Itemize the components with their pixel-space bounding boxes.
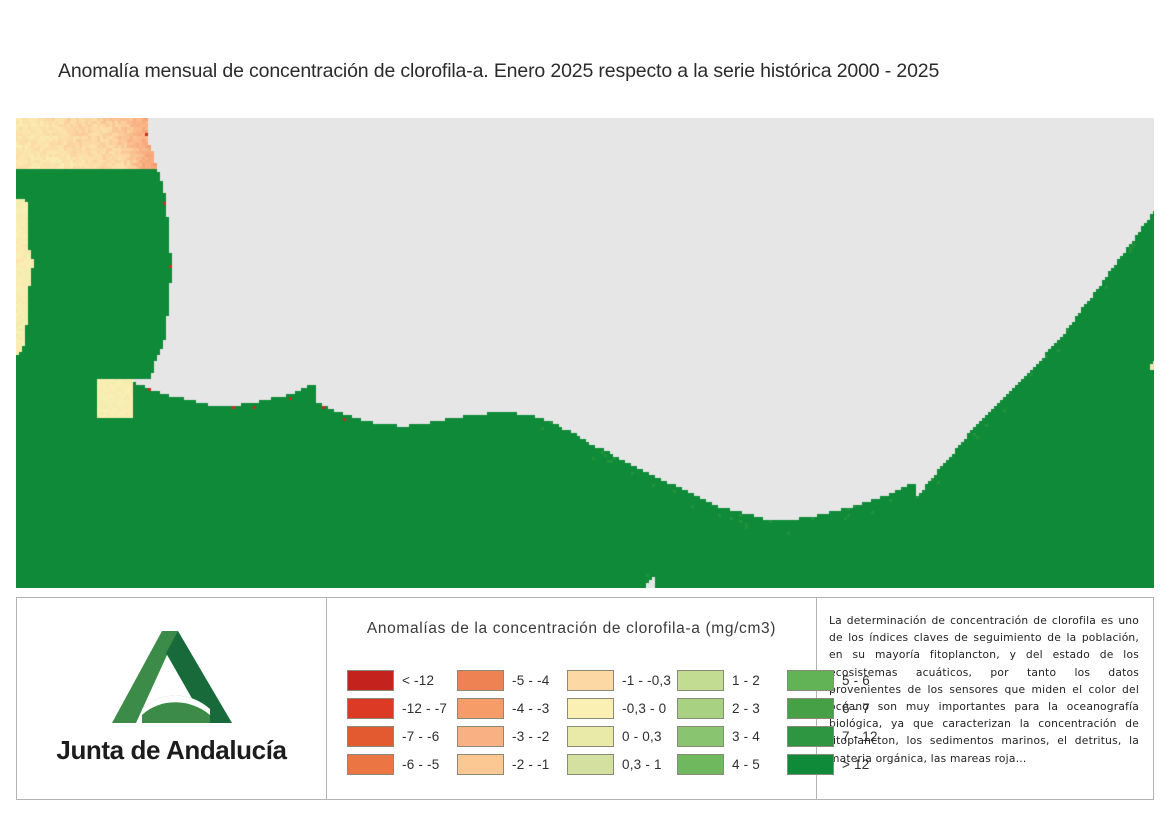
legend-swatch — [457, 754, 504, 775]
legend-column-1: < -12-12 - -7-7 - -6-6 - -5 — [347, 668, 457, 776]
legend-item[interactable]: -7 - -6 — [347, 724, 457, 748]
legend-item[interactable]: -0,3 - 0 — [567, 696, 677, 720]
legend-label: 5 - 6 — [842, 673, 870, 688]
legend-swatch — [787, 754, 834, 775]
legend-item[interactable]: -6 - -5 — [347, 752, 457, 776]
legend-item[interactable]: > 12 — [787, 752, 897, 776]
legend-column-4: 1 - 22 - 33 - 44 - 5 — [677, 668, 787, 776]
legend-label: 0 - 0,3 — [622, 729, 662, 744]
legend-label: 1 - 2 — [732, 673, 760, 688]
legend-item[interactable]: 0,3 - 1 — [567, 752, 677, 776]
legend-item[interactable]: -12 - -7 — [347, 696, 457, 720]
map-legend-panel: Junta de Andalucía Anomalías de la conce… — [16, 597, 1154, 800]
legend-column-2: -5 - -4-4 - -3-3 - -2-2 - -1 — [457, 668, 567, 776]
legend-label: 2 - 3 — [732, 701, 760, 716]
legend-item[interactable]: -2 - -1 — [457, 752, 567, 776]
legend-label: 3 - 4 — [732, 729, 760, 744]
legend-label: -0,3 - 0 — [622, 701, 666, 716]
legend-swatch — [457, 670, 504, 691]
legend-column-5: 5 - 66 - 77 - 12> 12 — [787, 668, 897, 776]
legend-swatch — [787, 698, 834, 719]
organization-name: Junta de Andalucía — [56, 735, 286, 766]
legend-item[interactable]: 2 - 3 — [677, 696, 787, 720]
legend-item[interactable]: 3 - 4 — [677, 724, 787, 748]
legend-swatch — [787, 726, 834, 747]
legend-swatch — [567, 726, 614, 747]
legend-label: 7 - 12 — [842, 729, 878, 744]
legend-label: -2 - -1 — [512, 757, 549, 772]
legend-grid: < -12-12 - -7-7 - -6-6 - -5-5 - -4-4 - -… — [347, 668, 897, 776]
legend-label: -5 - -4 — [512, 673, 549, 688]
legend-item[interactable]: -5 - -4 — [457, 668, 567, 692]
legend-label: 4 - 5 — [732, 757, 760, 772]
legend-item[interactable]: 0 - 0,3 — [567, 724, 677, 748]
legend-swatch — [677, 726, 724, 747]
legend-swatch — [677, 670, 724, 691]
legend-item[interactable]: 7 - 12 — [787, 724, 897, 748]
legend-cell: Anomalías de la concentración de clorofi… — [327, 598, 817, 799]
map-poster: Anomalía mensual de concentración de clo… — [0, 0, 1170, 827]
legend-swatch — [457, 726, 504, 747]
legend-column-3: -1 - -0,3-0,3 - 00 - 0,30,3 - 1 — [567, 668, 677, 776]
andalucia-a-logo-icon — [106, 625, 238, 729]
legend-label: > 12 — [842, 757, 869, 772]
legend-item[interactable]: -4 - -3 — [457, 696, 567, 720]
legend-item[interactable]: < -12 — [347, 668, 457, 692]
legend-item[interactable]: 1 - 2 — [677, 668, 787, 692]
legend-swatch — [347, 726, 394, 747]
legend-label: -4 - -3 — [512, 701, 549, 716]
legend-title: Anomalías de la concentración de clorofi… — [327, 620, 816, 638]
legend-item[interactable]: 6 - 7 — [787, 696, 897, 720]
legend-swatch — [677, 698, 724, 719]
legend-item[interactable]: -1 - -0,3 — [567, 668, 677, 692]
legend-label: -6 - -5 — [402, 757, 439, 772]
legend-swatch — [567, 670, 614, 691]
legend-swatch — [347, 670, 394, 691]
legend-label: < -12 — [402, 673, 434, 688]
legend-item[interactable]: 4 - 5 — [677, 752, 787, 776]
page-title: Anomalía mensual de concentración de clo… — [58, 60, 1138, 83]
legend-label: -12 - -7 — [402, 701, 447, 716]
legend-swatch — [567, 698, 614, 719]
legend-swatch — [347, 754, 394, 775]
legend-label: -3 - -2 — [512, 729, 549, 744]
chlorophyll-anomaly-map[interactable] — [16, 118, 1154, 588]
legend-swatch — [677, 754, 724, 775]
legend-label: 6 - 7 — [842, 701, 870, 716]
legend-label: 0,3 - 1 — [622, 757, 662, 772]
legend-label: -7 - -6 — [402, 729, 439, 744]
legend-label: -1 - -0,3 — [622, 673, 671, 688]
legend-item[interactable]: 5 - 6 — [787, 668, 897, 692]
legend-swatch — [567, 754, 614, 775]
legend-swatch — [457, 698, 504, 719]
legend-swatch — [787, 670, 834, 691]
map-raster-canvas[interactable] — [16, 118, 1154, 588]
legend-item[interactable]: -3 - -2 — [457, 724, 567, 748]
legend-swatch — [347, 698, 394, 719]
logo-cell: Junta de Andalucía — [17, 598, 327, 799]
